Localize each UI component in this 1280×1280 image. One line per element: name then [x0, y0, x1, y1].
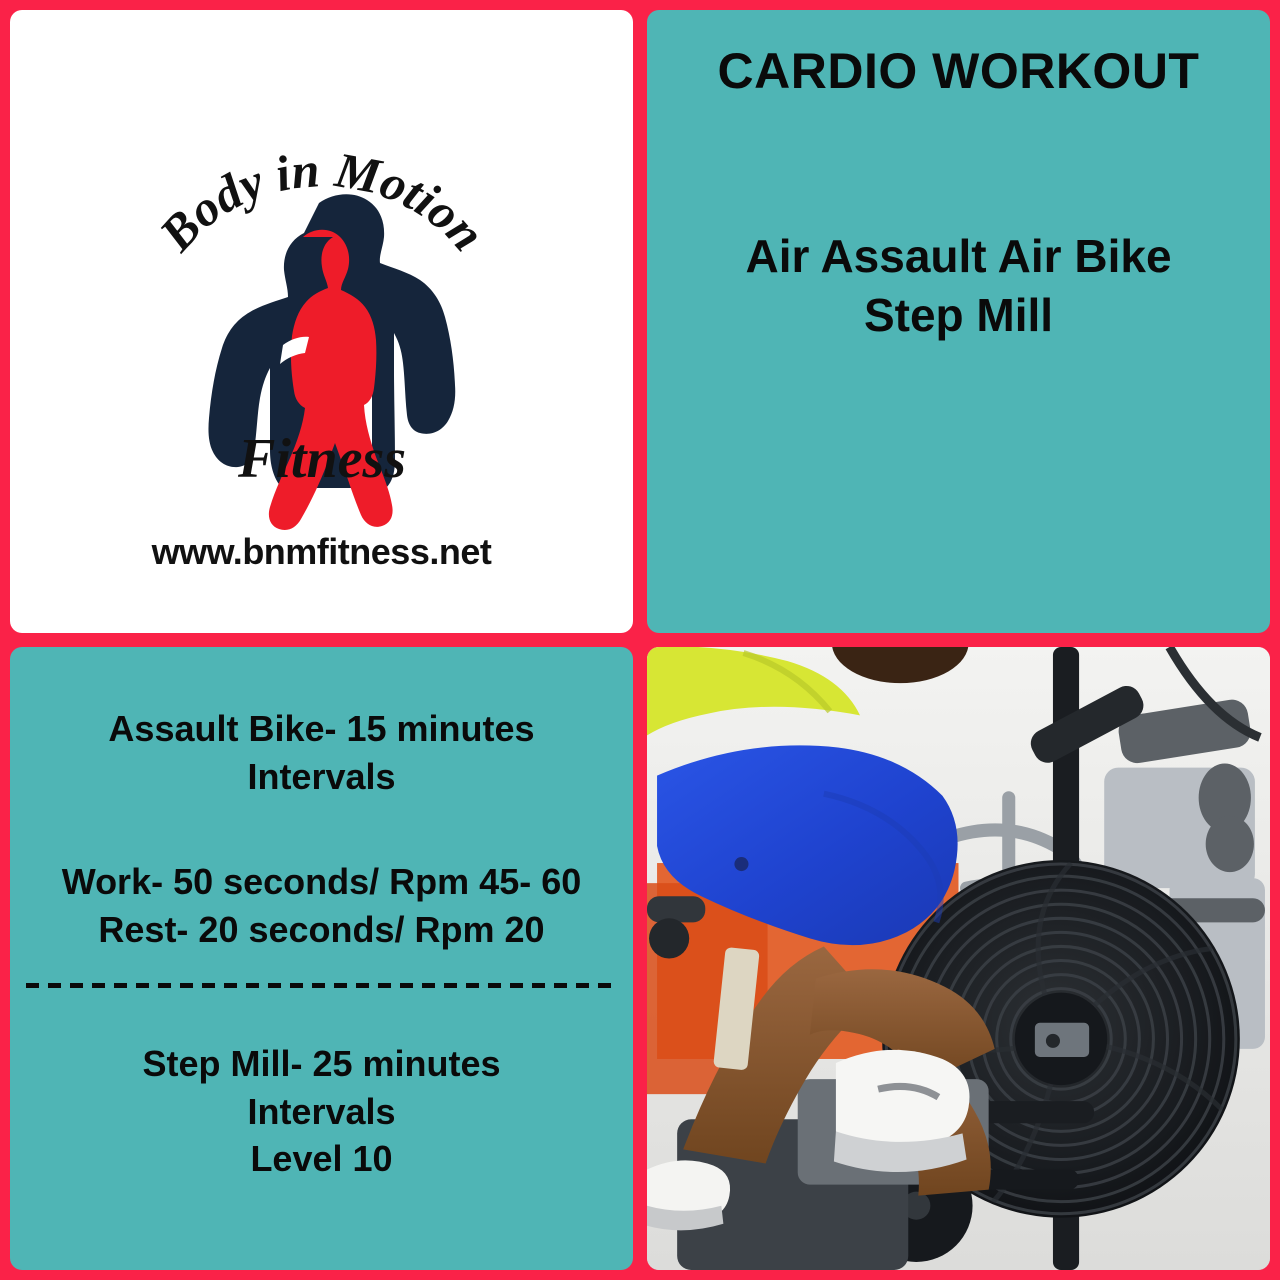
interval-rest-line: Rest- 20 seconds/ Rpm 20	[62, 906, 582, 954]
machine-item-air-bike: Air Assault Air Bike	[745, 227, 1171, 286]
machine-item-step-mill: Step Mill	[745, 286, 1171, 345]
assault-bike-section: Assault Bike- 15 minutes Intervals	[108, 705, 534, 800]
step-mill-duration: Step Mill- 25 minutes	[142, 1040, 500, 1088]
rider-front-shoe	[834, 1050, 970, 1172]
workout-panel: Assault Bike- 15 minutes Intervals Work-…	[10, 647, 633, 1270]
step-mill-level: Level 10	[142, 1135, 500, 1183]
cardio-workout-heading: CARDIO WORKOUT	[718, 44, 1200, 99]
rider-rear-shoe	[647, 1160, 730, 1230]
machine-list: Air Assault Air Bike Step Mill	[745, 227, 1171, 345]
logo-panel: Body in Motion Fitness www.bnmfitness.ne…	[10, 10, 633, 633]
shorts-button	[734, 857, 748, 871]
step-mill-type: Intervals	[142, 1088, 500, 1136]
interval-section: Work- 50 seconds/ Rpm 45- 60 Rest- 20 se…	[62, 858, 582, 953]
fan-hub-bracket	[1035, 1023, 1089, 1057]
logo-graphic: Body in Motion Fitness	[107, 107, 537, 537]
workout-collage: Body in Motion Fitness www.bnmfitness.ne…	[0, 0, 1280, 1280]
brand-logo: Body in Motion Fitness www.bnmfitness.ne…	[107, 107, 537, 537]
step-mill-section: Step Mill- 25 minutes Intervals Level 10	[142, 1040, 500, 1183]
assault-bike-duration: Assault Bike- 15 minutes	[108, 705, 534, 753]
assault-bike-type: Intervals	[108, 753, 534, 801]
interval-work-line: Work- 50 seconds/ Rpm 45- 60	[62, 858, 582, 906]
title-panel: CARDIO WORKOUT Air Assault Air Bike Step…	[647, 10, 1270, 633]
logo-brand-bottom-text: Fitness	[236, 428, 405, 490]
photo-panel	[647, 647, 1270, 1270]
logo-website-text: www.bnmfitness.net	[107, 531, 537, 573]
air-bike-photo	[647, 647, 1270, 1270]
dashed-divider	[26, 983, 617, 988]
